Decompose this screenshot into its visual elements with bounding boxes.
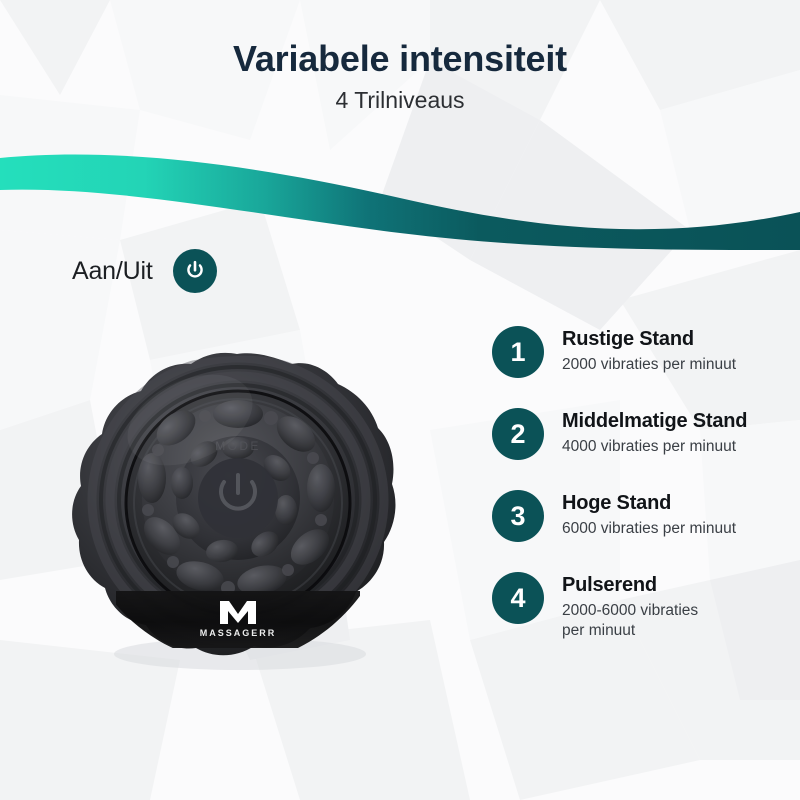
- level-title: Rustige Stand: [562, 328, 736, 351]
- level-description: 4000 vibraties per minuut: [562, 437, 747, 457]
- level-text-block: Pulserend 2000-6000 vibraties per minuut: [562, 572, 698, 641]
- level-number-badge: 1: [492, 326, 544, 378]
- level-description: 2000 vibraties per minuut: [562, 355, 736, 375]
- brand-name: MASSAGERR: [200, 628, 277, 638]
- level-description: 6000 vibraties per minuut: [562, 519, 736, 539]
- infographic-poster: Variabele intensiteit 4 Trilniveaus Aan/…: [0, 0, 800, 800]
- level-title: Hoge Stand: [562, 492, 736, 515]
- level-title: Pulserend: [562, 574, 698, 597]
- header: Variabele intensiteit 4 Trilniveaus: [0, 38, 800, 115]
- power-icon: [183, 259, 207, 283]
- power-icon-badge[interactable]: [173, 249, 217, 293]
- level-text-block: Rustige Stand 2000 vibraties per minuut: [562, 326, 736, 375]
- list-item: 4 Pulserend 2000-6000 vibraties per minu…: [492, 572, 792, 641]
- level-text-block: Hoge Stand 6000 vibraties per minuut: [562, 490, 736, 539]
- page-title: Variabele intensiteit: [0, 38, 800, 79]
- page-subtitle: 4 Trilniveaus: [0, 87, 800, 115]
- power-toggle-row: Aan/Uit: [72, 249, 217, 293]
- teal-wave-divider: [0, 138, 800, 250]
- power-label: Aan/Uit: [72, 257, 153, 286]
- list-item: 2 Middelmatige Stand 4000 vibraties per …: [492, 408, 792, 460]
- level-description: 2000-6000 vibraties per minuut: [562, 601, 698, 641]
- list-item: 3 Hoge Stand 6000 vibraties per minuut: [492, 490, 792, 542]
- level-title: Middelmatige Stand: [562, 410, 747, 433]
- product-image-massage-ball: MODE MASSAGERR: [72, 348, 402, 673]
- level-number-badge: 2: [492, 408, 544, 460]
- intensity-levels-list: 1 Rustige Stand 2000 vibraties per minuu…: [492, 326, 792, 641]
- level-number-badge: 4: [492, 572, 544, 624]
- level-text-block: Middelmatige Stand 4000 vibraties per mi…: [562, 408, 747, 457]
- level-number-badge: 3: [492, 490, 544, 542]
- list-item: 1 Rustige Stand 2000 vibraties per minuu…: [492, 326, 792, 378]
